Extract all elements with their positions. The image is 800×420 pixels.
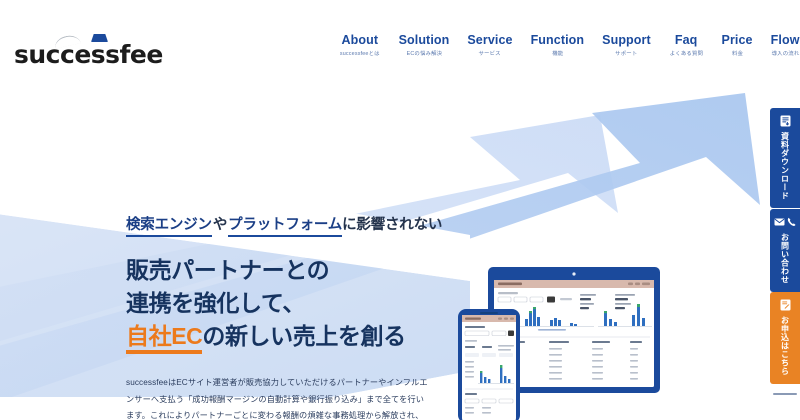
nav-item-flow[interactable]: Flow 導入の流れ: [762, 33, 800, 60]
rail-tab-apply[interactable]: お申込はこちら: [770, 292, 800, 384]
site-header: successfee About successfeeとは Solution E…: [0, 0, 800, 85]
document-download-icon: [780, 115, 791, 127]
nav-item-service[interactable]: Service サービス: [458, 33, 521, 60]
nav-label-en: Price: [722, 33, 753, 48]
rail-tab-label: お申込はこちら: [780, 316, 791, 376]
logo-text: successfee: [14, 42, 163, 67]
page-root: 検索エンジンやプラットフォームに影響されない 販売パートナーとの 連携を強化して…: [0, 0, 800, 420]
phone-mockup: [458, 309, 520, 420]
nav-label-en: Faq: [669, 33, 704, 48]
mail-icon: [774, 218, 785, 226]
nav-label-ja: よくある質問: [669, 48, 702, 60]
hero-section: 検索エンジンやプラットフォームに影響されない 販売パートナーとの 連携を強化して…: [0, 85, 800, 420]
rail-bottom-separator: [773, 393, 797, 395]
headline-accent: 自社EC: [126, 323, 202, 354]
rail-icon-group: [780, 298, 791, 311]
nav-label-ja: ECの悩み解決: [400, 48, 449, 60]
rail-tab-contact[interactable]: お問い合わせ: [770, 209, 800, 292]
side-cta-rail: 資料ダウンロード お問い合わせ: [770, 108, 800, 395]
body-line: ンサーへ支払う「成功報酬マージンの自動計算や銀行振り込み」まで全てを行い: [126, 392, 446, 409]
headline-line-3-rest: の新しい売上を創る: [202, 323, 405, 349]
laptop-and-phone-illustration: [452, 263, 662, 420]
hero-body-copy: successfeeはECサイト運営者が販売協力していただけるパートナーやインフ…: [126, 375, 446, 420]
rail-icon-group: [780, 114, 791, 127]
logo[interactable]: successfee: [14, 28, 174, 68]
nav-item-faq[interactable]: Faq よくある質問: [660, 33, 713, 60]
kicker-keyword-2: プラットフォーム: [228, 217, 342, 237]
rail-tab-label: お問い合わせ: [780, 233, 791, 284]
nav-label-en: Solution: [399, 33, 450, 48]
nav-label-ja: 導入の流れ: [771, 48, 799, 60]
hero-copy: 検索エンジンやプラットフォームに影響されない 販売パートナーとの 連携を強化して…: [126, 215, 466, 420]
nav-label-en: About: [339, 33, 381, 48]
nav-label-ja: サービス: [468, 48, 511, 60]
rail-icon-group: [774, 215, 796, 228]
nav-label-en: Function: [531, 33, 585, 48]
headline-line-2: 連携を強化して、: [126, 287, 466, 320]
nav-label-ja: 料金: [722, 48, 752, 60]
headline-line-3: 自社ECの新しい売上を創る: [126, 320, 466, 353]
pencil-document-icon: [780, 299, 791, 311]
rail-tab-label: 資料ダウンロード: [780, 132, 791, 200]
body-line: ます。これによりパートナーごとに変わる報酬の煩雑な事務処理から解放され、: [126, 408, 446, 420]
hero-headline: 販売パートナーとの 連携を強化して、 自社ECの新しい売上を創る: [126, 254, 466, 353]
kicker-conjunction: や: [212, 217, 228, 233]
kicker-keyword-1: 検索エンジン: [126, 217, 212, 237]
nav-item-price[interactable]: Price 料金: [713, 33, 762, 60]
headline-line-1: 販売パートナーとの: [126, 254, 466, 287]
main-navigation: About successfeeとは Solution ECの悩み解決 Serv…: [330, 33, 800, 60]
product-screenshot-mockup: [452, 263, 662, 420]
nav-label-ja: successfeeとは: [340, 48, 380, 60]
nav-label-ja: 機能: [532, 48, 583, 60]
nav-item-about[interactable]: About successfeeとは: [330, 33, 390, 60]
nav-item-solution[interactable]: Solution ECの悩み解決: [390, 33, 459, 60]
hero-kicker: 検索エンジンやプラットフォームに影響されない: [126, 215, 466, 235]
nav-label-en: Service: [467, 33, 512, 48]
nav-item-function[interactable]: Function 機能: [522, 33, 594, 60]
nav-label-ja: サポート: [603, 48, 650, 60]
phone-icon: [787, 217, 796, 227]
nav-label-en: Flow: [771, 33, 800, 48]
body-line: successfeeはECサイト運営者が販売協力していただけるパートナーやインフ…: [126, 375, 446, 392]
nav-label-en: Support: [602, 33, 651, 48]
kicker-tail: に影響されない: [342, 217, 442, 233]
rail-tab-document-download[interactable]: 資料ダウンロード: [770, 108, 800, 208]
nav-item-support[interactable]: Support サポート: [593, 33, 660, 60]
